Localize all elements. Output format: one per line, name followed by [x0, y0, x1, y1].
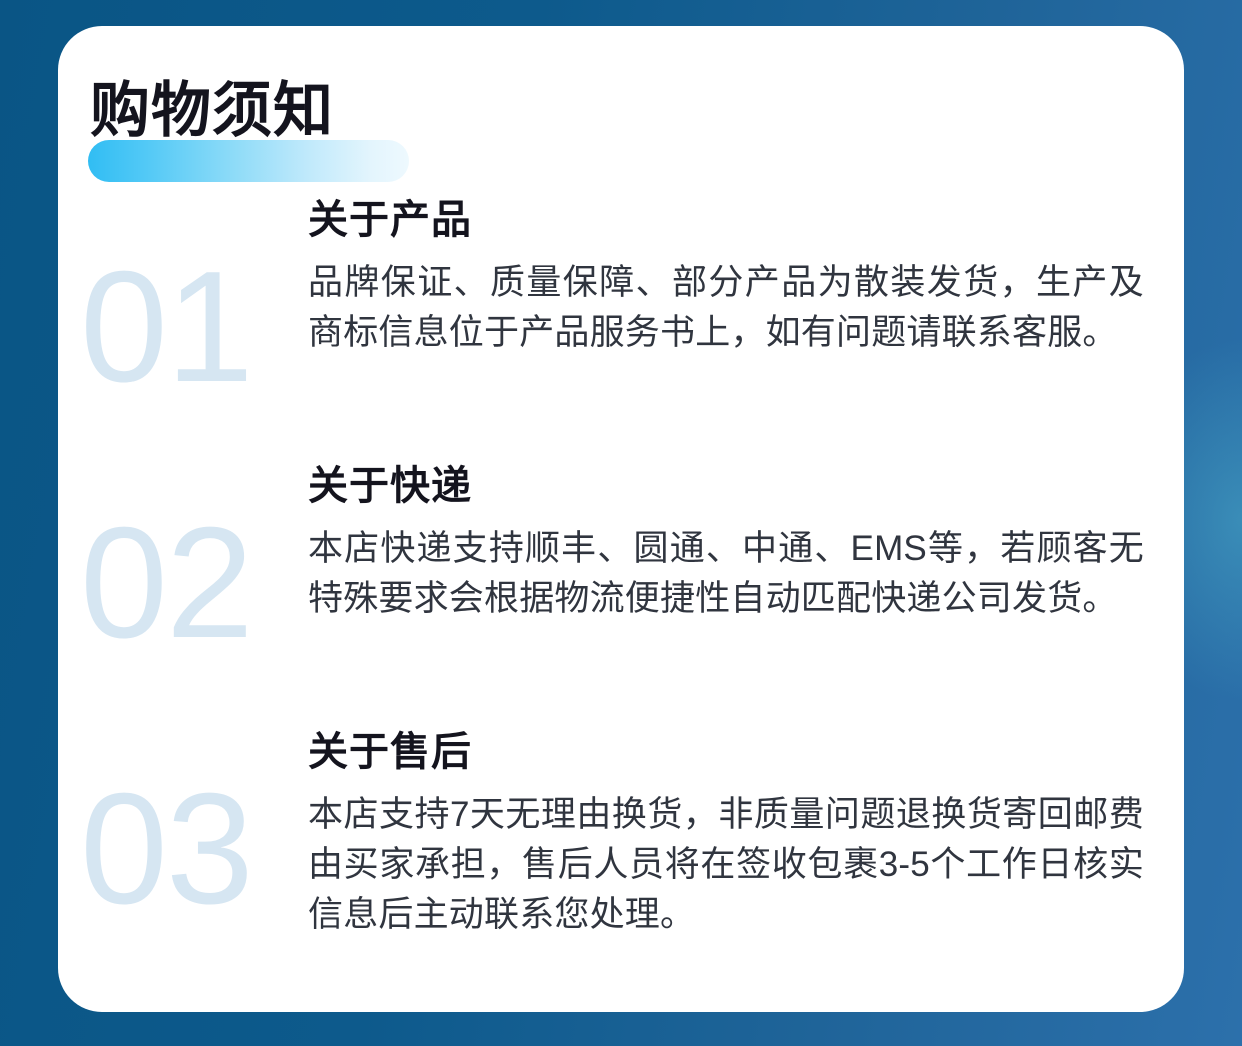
page-title: 购物须知: [88, 78, 334, 142]
section-heading-shipping: 关于快递: [308, 462, 1144, 510]
notice-section-product: 01 关于产品 品牌保证、质量保障、部分产品为散装发货，生产及商标信息位于产品服…: [58, 196, 1184, 446]
section-body-01: 关于产品 品牌保证、质量保障、部分产品为散装发货，生产及商标信息位于产品服务书上…: [308, 196, 1184, 358]
section-number-02: 02: [80, 504, 310, 662]
section-text-shipping: 本店快递支持顺丰、圆通、中通、EMS等，若顾客无特殊要求会根据物流便捷性自动匹配…: [308, 524, 1144, 624]
section-heading-product: 关于产品: [308, 196, 1144, 244]
notice-section-shipping: 02 关于快递 本店快递支持顺丰、圆通、中通、EMS等，若顾客无特殊要求会根据物…: [58, 462, 1184, 712]
notice-card: 购物须知 01 关于产品 品牌保证、质量保障、部分产品为散装发货，生产及商标信息…: [58, 26, 1184, 1012]
page-title-block: 购物须知: [88, 78, 334, 188]
section-body-02: 关于快递 本店快递支持顺丰、圆通、中通、EMS等，若顾客无特殊要求会根据物流便捷…: [308, 462, 1184, 624]
notice-section-aftersales: 03 关于售后 本店支持7天无理由换货，非质量问题退换货寄回邮费由买家承担，售后…: [58, 728, 1184, 978]
section-text-aftersales: 本店支持7天无理由换货，非质量问题退换货寄回邮费由买家承担，售后人员将在签收包裹…: [308, 790, 1144, 940]
section-text-product: 品牌保证、质量保障、部分产品为散装发货，生产及商标信息位于产品服务书上，如有问题…: [308, 258, 1144, 358]
section-body-03: 关于售后 本店支持7天无理由换货，非质量问题退换货寄回邮费由买家承担，售后人员将…: [308, 728, 1184, 940]
section-number-01: 01: [80, 248, 310, 406]
title-highlight-bar: [88, 140, 409, 182]
section-heading-aftersales: 关于售后: [308, 728, 1144, 776]
section-number-03: 03: [80, 770, 310, 928]
shopping-notice-page: 购物须知 01 关于产品 品牌保证、质量保障、部分产品为散装发货，生产及商标信息…: [0, 0, 1242, 1046]
notice-sections: 01 关于产品 品牌保证、质量保障、部分产品为散装发货，生产及商标信息位于产品服…: [58, 196, 1184, 978]
